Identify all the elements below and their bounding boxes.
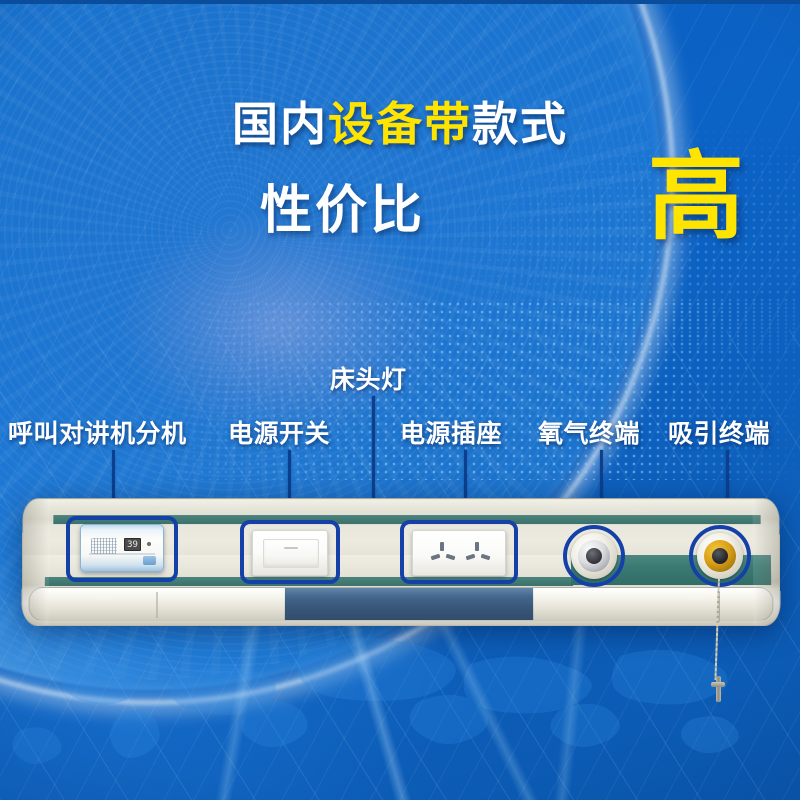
socket-pin-right-icon bbox=[481, 554, 491, 561]
suction-terminal-device[interactable] bbox=[697, 533, 743, 579]
panel-seam-left bbox=[156, 592, 158, 618]
socket-pin-right-icon bbox=[446, 554, 456, 561]
bottom-light-rays bbox=[0, 600, 800, 800]
switch-indicator-icon bbox=[284, 547, 298, 549]
callout-label-power-switch: 电源开关 bbox=[228, 414, 330, 450]
panel-rail-dark-section bbox=[285, 588, 533, 620]
power-switch-device[interactable] bbox=[252, 530, 328, 576]
socket-pin-left-icon bbox=[431, 554, 441, 561]
callout-label-power-socket: 电源插座 bbox=[400, 414, 502, 450]
panel-lower-stripe bbox=[45, 577, 573, 586]
headline-part1: 国内 bbox=[232, 98, 328, 150]
panel-end-cap-left bbox=[22, 499, 49, 625]
socket-outlet-2[interactable] bbox=[462, 542, 494, 566]
headline-part2: 款式 bbox=[472, 98, 568, 150]
callout-label-nurse-call-intercom: 呼叫对讲机分机 bbox=[8, 414, 187, 450]
suction-port-icon bbox=[712, 548, 728, 564]
panel-top-stripe bbox=[53, 515, 760, 524]
top-edge-bar bbox=[0, 0, 800, 4]
headline-highlight: 设备带 bbox=[328, 98, 472, 150]
subheadline: 性价比 bbox=[260, 168, 425, 243]
cord-connector-tip bbox=[711, 676, 725, 702]
nurse-call-intercom-device[interactable]: 39 bbox=[80, 524, 164, 572]
intercom-call-button[interactable] bbox=[143, 556, 156, 565]
connector-shaft-icon bbox=[716, 676, 721, 702]
rocker-switch[interactable] bbox=[263, 539, 319, 568]
callout-label-suction-terminal: 吸引终端 bbox=[668, 414, 770, 450]
oxygen-terminal-device[interactable] bbox=[571, 533, 617, 579]
callout-label-bedside-lamp: 床头灯 bbox=[330, 360, 407, 396]
halftone-dots-right bbox=[430, 120, 800, 350]
speaker-grille-icon bbox=[91, 538, 117, 554]
intercom-divider bbox=[89, 553, 155, 555]
status-led-icon bbox=[147, 542, 151, 546]
connector-crossbar-icon bbox=[711, 682, 725, 687]
product-banner: 国内设备带款式 性价比 高 呼叫对讲机分机 电源开关 床头灯 电源插座 氧气终端… bbox=[0, 0, 800, 800]
headline-big-character: 高 bbox=[648, 150, 744, 246]
oxygen-port-icon bbox=[586, 548, 602, 564]
socket-outlet-1[interactable] bbox=[427, 542, 459, 566]
panel-end-cap-right bbox=[752, 499, 779, 625]
power-socket-device[interactable] bbox=[412, 530, 506, 576]
intercom-display: 39 bbox=[124, 538, 141, 551]
socket-pin-top-icon bbox=[440, 542, 444, 551]
socket-pin-left-icon bbox=[466, 554, 476, 561]
callout-label-oxygen-terminal: 氧气终端 bbox=[538, 414, 640, 450]
socket-pin-top-icon bbox=[475, 542, 479, 551]
